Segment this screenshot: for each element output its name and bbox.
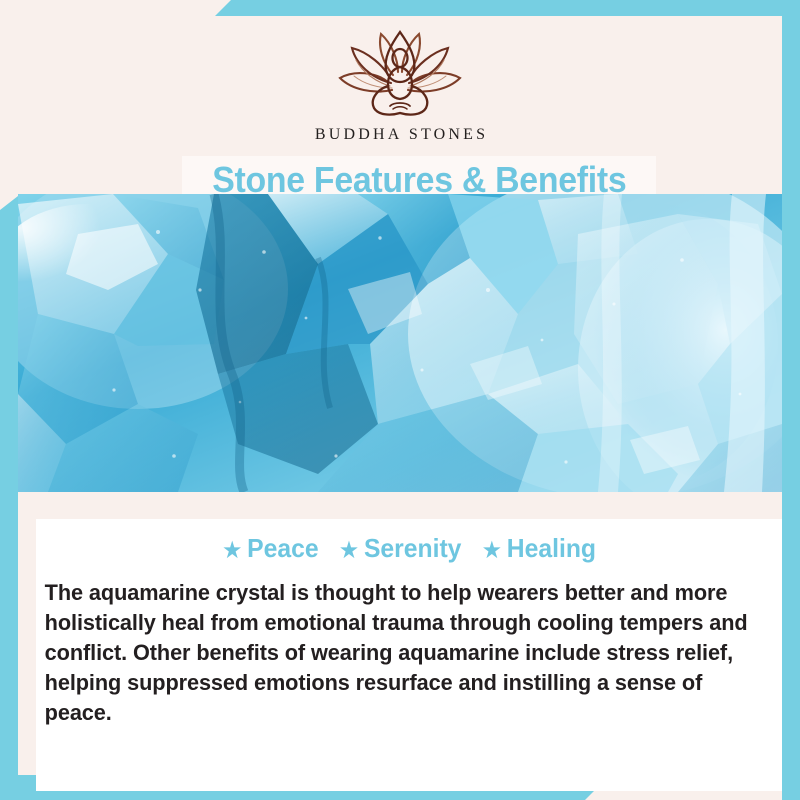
benefits-keyword-row: ★Peace ★Serenity ★Healing [55, 519, 764, 564]
decor-band-top [215, 0, 800, 16]
star-icon: ★ [339, 538, 359, 562]
decor-band-right [782, 0, 800, 800]
brand-wordmark: BUDDHA STONES [312, 126, 489, 144]
stone-description-text: The aquamarine crystal is thought to hel… [36, 564, 756, 728]
description-card: ★Peace ★Serenity ★Healing The aquamarine… [36, 519, 782, 791]
star-icon: ★ [482, 538, 502, 562]
benefit-label: Serenity [364, 533, 461, 563]
lotus-meditation-icon [330, 28, 470, 124]
stone-features-poster: BUDDHA STONES Stone Features & Benefits [0, 0, 800, 800]
decor-band-left [0, 196, 18, 800]
benefit-item-serenity: ★Serenity [339, 533, 462, 564]
aquamarine-crystal-photo [18, 194, 782, 492]
hero-image: Aquamarine [18, 194, 782, 492]
poster-page: BUDDHA STONES Stone Features & Benefits [18, 16, 782, 775]
star-icon: ★ [222, 538, 242, 562]
benefit-label: Healing [507, 533, 596, 563]
benefit-label: Peace [247, 533, 318, 563]
benefit-item-healing: ★Healing [482, 533, 596, 564]
benefit-item-peace: ★Peace [222, 533, 319, 564]
